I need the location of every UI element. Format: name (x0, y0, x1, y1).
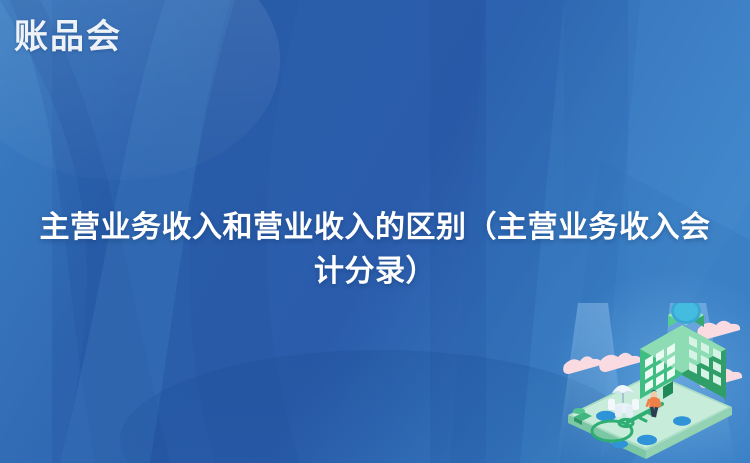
site-logo[interactable]: 账品会 (14, 20, 122, 54)
article-cover-banner: 账品会 主营业务收入和营业收入的区别（主营业务收入会计分录） (0, 0, 750, 463)
cover-illustration (550, 303, 750, 463)
page-title: 主营业务收入和营业收入的区别（主营业务收入会计分录） (30, 206, 720, 294)
